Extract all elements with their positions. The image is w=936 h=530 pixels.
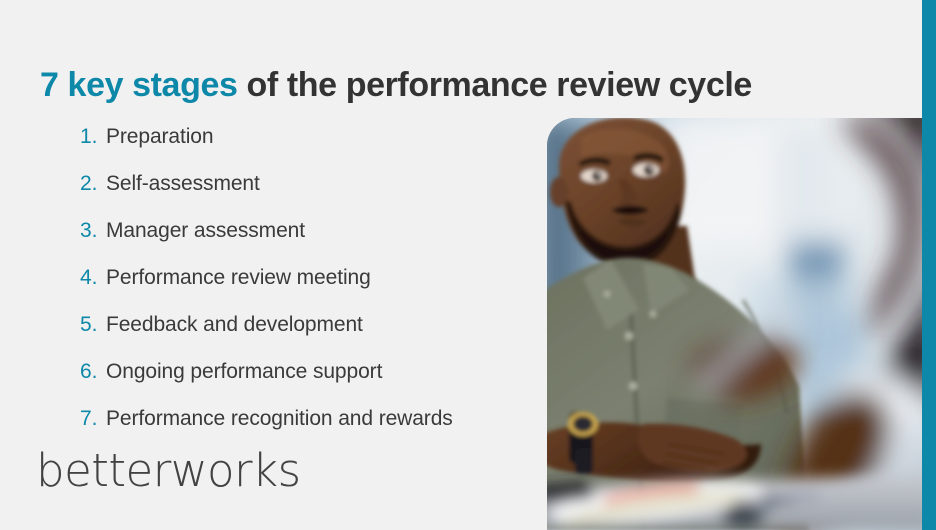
list-item-number: 2.	[80, 169, 106, 199]
page-title-accent: 7 key stages	[40, 66, 237, 104]
list-item-number: 1.	[80, 122, 106, 152]
list-item: 4. Performance review meeting	[80, 263, 560, 310]
list-item: 1. Preparation	[80, 122, 560, 169]
page-title-rest: of the performance review cycle	[237, 66, 751, 104]
betterworks-logo: betterworks	[36, 446, 301, 496]
meeting-photo	[547, 118, 922, 530]
page-title: 7 key stages of the performance review c…	[40, 63, 900, 107]
right-accent-bar	[922, 0, 936, 530]
list-item-label: Preparation	[106, 122, 560, 152]
list-item-number: 5.	[80, 310, 106, 340]
list-item-label: Manager assessment	[106, 216, 560, 246]
list-item-label: Feedback and development	[106, 310, 560, 340]
list-item: 3. Manager assessment	[80, 216, 560, 263]
list-item: 6. Ongoing performance support	[80, 357, 560, 404]
list-item-number: 7.	[80, 404, 106, 434]
list-item-label: Ongoing performance support	[106, 357, 560, 387]
list-item-number: 6.	[80, 357, 106, 387]
list-item-label: Performance recognition and rewards	[106, 404, 560, 434]
list-item-label: Self-assessment	[106, 169, 560, 199]
stage-list: 1. Preparation 2. Self-assessment 3. Man…	[40, 122, 560, 451]
slide-canvas: 7 key stages of the performance review c…	[0, 0, 936, 530]
list-item: 2. Self-assessment	[80, 169, 560, 216]
list-item-label: Performance review meeting	[106, 263, 560, 293]
list-item: 5. Feedback and development	[80, 310, 560, 357]
list-item-number: 4.	[80, 263, 106, 293]
list-item-number: 3.	[80, 216, 106, 246]
